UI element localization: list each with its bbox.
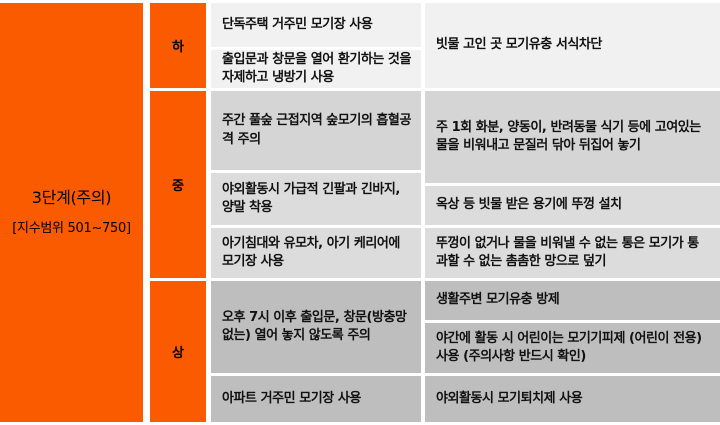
personal-action-cell: 주간 풀숲 근접지역 숲모기의 흡혈공격 주의: [211, 91, 421, 170]
personal-action-text: 출입문과 창문을 열어 환기하는 것을 자제하고 냉방기 사용: [222, 51, 411, 88]
environment-action-cell: 주 1회 화분, 양동이, 반려동물 식기 등에 고여있는 물을 비워내고 문질…: [425, 91, 720, 183]
personal-action-cell: 아기침대와 유모차, 아기 케리어에 모기장 사용: [211, 228, 421, 278]
personal-action-cell: 출입문과 창문을 열어 환기하는 것을 자제하고 냉방기 사용: [211, 50, 421, 88]
grade-label: 중: [172, 175, 184, 194]
environment-action-text: 주 1회 화분, 양동이, 반려동물 식기 등에 고여있는 물을 비워내고 문질…: [436, 119, 710, 156]
environment-action-text: 옥상 등 빗물 받은 용기에 뚜껑 설치: [436, 196, 622, 214]
grade-label: 하: [172, 36, 184, 55]
environment-action-text: 빗물 고인 곳 모기유충 서식차단: [436, 36, 602, 54]
personal-action-cell: 오후 7시 이후 출입문, 창문(방충망 없는) 열어 놓지 않도록 주의: [211, 281, 421, 373]
personal-action-text: 주간 풀숲 근접지역 숲모기의 흡혈공격 주의: [222, 112, 411, 149]
grade-cell-mid: 중: [150, 91, 206, 278]
personal-action-text: 오후 7시 이후 출입문, 창문(방충망 없는) 열어 놓지 않도록 주의: [222, 309, 411, 346]
personal-action-text: 아파트 거주민 모기장 사용: [222, 390, 361, 408]
grade-cell-high: 상: [150, 281, 206, 422]
personal-action-cell: 아파트 거주민 모기장 사용: [211, 376, 421, 422]
personal-action-text: 단독주택 거주민 모기장 사용: [222, 16, 372, 34]
personal-action-cell: 야외활동시 가급적 긴팔과 긴바지, 양말 착용: [211, 173, 421, 225]
personal-action-text: 아기침대와 유모차, 아기 케리어에 모기장 사용: [222, 235, 411, 272]
grade-label: 상: [172, 342, 184, 361]
personal-action-text: 야외활동시 가급적 긴팔과 긴바지, 양말 착용: [222, 181, 411, 218]
environment-action-text: 야외활동시 모기퇴치제 사용: [436, 390, 582, 408]
grade-cell-low: 하: [150, 3, 206, 88]
environment-action-cell: 뚜껑이 없거나 물을 비워낼 수 없는 통은 모기가 통과할 수 없는 촘촘한 …: [425, 228, 720, 278]
personal-action-cell: 단독주택 거주민 모기장 사용: [211, 3, 421, 47]
environment-action-text: 뚜껑이 없거나 물을 비워낼 수 없는 통은 모기가 통과할 수 없는 촘촘한 …: [436, 235, 710, 272]
environment-action-cell: 옥상 등 빗물 받은 용기에 뚜껑 설치: [425, 186, 720, 225]
environment-action-cell: 야외활동시 모기퇴치제 사용: [425, 376, 720, 422]
environment-action-text: 생활주변 모기유충 방제: [436, 291, 559, 309]
level-index-range: [지수범위 501~750]: [12, 221, 130, 237]
mosquito-alert-level-table: 3단계(주의) [지수범위 501~750] 하 중 상 단독주택 거주민 모기…: [0, 0, 720, 425]
environment-action-text: 야간에 활동 시 어린이는 모기기피제 (어린이 전용) 사용 (주의사항 반드…: [436, 330, 710, 367]
environment-action-cell: 빗물 고인 곳 모기유충 서식차단: [425, 3, 720, 88]
environment-action-cell: 야간에 활동 시 어린이는 모기기피제 (어린이 전용) 사용 (주의사항 반드…: [425, 323, 720, 373]
level-title: 3단계(주의): [32, 188, 111, 207]
level-banner: 3단계(주의) [지수범위 501~750]: [0, 3, 143, 422]
environment-action-cell: 생활주변 모기유충 방제: [425, 281, 720, 320]
